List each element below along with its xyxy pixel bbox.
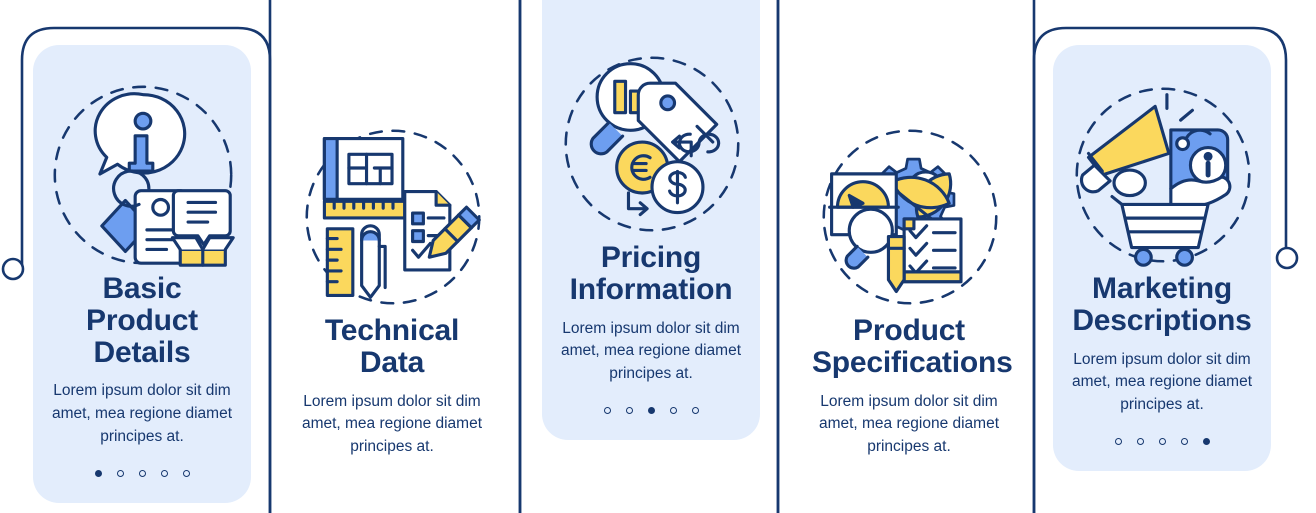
card-title-line-1: Pricing: [601, 241, 701, 274]
card-description: Lorem ipsum dolor sit dim amet, mea regi…: [45, 380, 239, 448]
megaphone-tag-cart-icon: [1065, 77, 1261, 273]
pagination-dot[interactable]: [1115, 438, 1122, 445]
card-title-line-2: Details: [94, 336, 191, 369]
pagination-dot[interactable]: [670, 407, 677, 414]
pagination-dot[interactable]: [95, 470, 102, 477]
pagination-dot[interactable]: [161, 470, 168, 477]
pagination-dots[interactable]: [45, 470, 239, 477]
card-title-line-1: Product: [853, 314, 965, 347]
card-title-line-1: Technical: [325, 314, 459, 347]
card-title: Pricing Information: [554, 242, 748, 306]
card-description: Lorem ipsum dolor sit dim amet, mea regi…: [1065, 349, 1259, 417]
card-title-line-2: Information: [570, 273, 733, 306]
card-basic-product-details[interactable]: Basic Product Details Lorem ipsum dolor …: [33, 45, 251, 503]
pagination-dot[interactable]: [692, 407, 699, 414]
card-description: Lorem ipsum dolor sit dim amet, mea regi…: [812, 391, 1006, 459]
card-marketing-descriptions[interactable]: Marketing Descriptions Lorem ipsum dolor…: [1053, 45, 1271, 471]
card-title-line-1: Marketing: [1092, 272, 1232, 305]
pagination-dot[interactable]: [1137, 438, 1144, 445]
card-title-line-2: Data: [360, 346, 424, 379]
timeline-end-node: [1277, 248, 1297, 268]
pagination-dot[interactable]: [139, 470, 146, 477]
pagination-dot[interactable]: [1159, 438, 1166, 445]
card-pricing-information[interactable]: Pricing Information Lorem ipsum dolor si…: [542, 0, 760, 440]
card-product-specifications[interactable]: Product Specifications Lorem ipsum dolor…: [800, 0, 1018, 484]
pagination-dots[interactable]: [1065, 438, 1259, 445]
card-description: Lorem ipsum dolor sit dim amet, mea regi…: [295, 391, 489, 459]
pagination-dot[interactable]: [604, 407, 611, 414]
card-title-line-1: Basic Product: [86, 272, 198, 337]
pagination-dot[interactable]: [648, 407, 655, 414]
card-technical-data[interactable]: Technical Data Lorem ipsum dolor sit dim…: [283, 0, 501, 484]
card-description: Lorem ipsum dolor sit dim amet, mea regi…: [554, 318, 748, 386]
pagination-dot[interactable]: [1203, 438, 1210, 445]
pagination-dots[interactable]: [554, 407, 748, 414]
pagination-dot[interactable]: [183, 470, 190, 477]
card-title-line-2: Specifications: [812, 346, 1013, 379]
pagination-dot[interactable]: [1181, 438, 1188, 445]
timeline-start-node: [3, 259, 23, 279]
product-info-tag-box-icon: [45, 77, 241, 273]
pagination-dot[interactable]: [117, 470, 124, 477]
card-title: Basic Product Details: [45, 273, 239, 368]
card-title-line-2: Descriptions: [1072, 304, 1251, 337]
price-chart-magnifier-currency-exchange-icon: [554, 46, 750, 242]
card-title: Technical Data: [295, 315, 489, 379]
infographic-canvas: Basic Product Details Lorem ipsum dolor …: [0, 0, 1316, 513]
card-title: Product Specifications: [812, 315, 1006, 379]
card-title: Marketing Descriptions: [1065, 273, 1259, 337]
scale-leaf-gear-checklist-icon: [812, 119, 1008, 315]
pagination-dot[interactable]: [626, 407, 633, 414]
blueprint-ruler-pencil-checklist-icon: [295, 119, 491, 315]
